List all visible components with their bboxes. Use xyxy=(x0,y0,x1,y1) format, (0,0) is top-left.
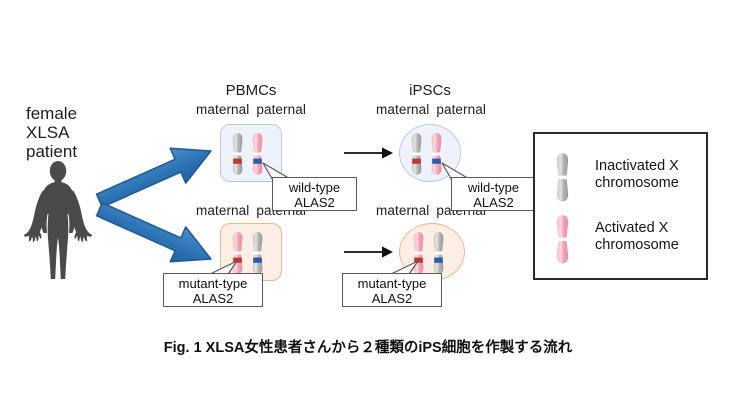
legend-item-activated: Activated X chromosome xyxy=(549,212,707,270)
legend-line1: Activated X xyxy=(595,220,713,237)
callout-line1: mutant-type xyxy=(168,277,258,292)
callout-line2: ALAS2 xyxy=(456,196,531,211)
column-title-pbmc: PBMCs xyxy=(191,82,311,99)
maternal-label: maternal xyxy=(376,203,429,218)
chromosome-paternal-inactivated xyxy=(251,231,264,275)
maternal-label: maternal xyxy=(376,102,429,117)
legend-item-inactivated: Inactivated X chromosome xyxy=(549,150,707,208)
paternal-label: paternal xyxy=(256,102,306,117)
legend-label-activated: Activated X chromosome xyxy=(595,220,713,253)
legend-label-inactivated: Inactivated X chromosome xyxy=(595,158,713,191)
inactivated-x-chromosome-icon xyxy=(555,152,570,202)
parent-labels-ipsc-top: maternalpaternal xyxy=(356,102,506,117)
callout-mutant-ipsc: mutant-type ALAS2 xyxy=(342,273,442,307)
callout-line2: ALAS2 xyxy=(347,292,437,307)
legend-line1: Inactivated X xyxy=(595,158,713,175)
maternal-label: maternal xyxy=(196,203,249,218)
legend-line2: chromosome xyxy=(595,175,713,192)
chromosome-maternal-inactivated xyxy=(231,132,244,176)
callout-line1: mutant-type xyxy=(347,277,437,292)
callout-line1: wild-type xyxy=(456,181,531,196)
parent-labels-pbmc-top: maternalpaternal xyxy=(176,102,326,117)
column-title-ipsc: iPSCs xyxy=(370,82,490,99)
paternal-label: paternal xyxy=(436,102,486,117)
activated-x-chromosome-icon xyxy=(555,214,570,264)
callout-wildtype-pbmc: wild-type ALAS2 xyxy=(272,177,357,211)
callout-line2: ALAS2 xyxy=(277,196,352,211)
callout-mutant-pbmc: mutant-type ALAS2 xyxy=(163,273,263,307)
callout-wildtype-ipsc: wild-type ALAS2 xyxy=(451,177,536,211)
figure-canvas: female XLSA patient P xyxy=(0,0,736,414)
figure-caption: Fig. 1 XLSA女性患者さんから２種類のiPS細胞を作製する流れ xyxy=(0,336,736,357)
callout-line1: wild-type xyxy=(277,181,352,196)
legend-line2: chromosome xyxy=(595,237,713,254)
female-patient-silhouette xyxy=(18,160,98,280)
chromosome-paternal-inactivated xyxy=(432,231,445,275)
callout-line2: ALAS2 xyxy=(168,292,258,307)
chromosome-maternal-inactivated xyxy=(410,132,423,176)
maternal-label: maternal xyxy=(196,102,249,117)
process-arrow-top xyxy=(344,145,394,166)
legend-box: Inactivated X chromosome Activated X chr… xyxy=(533,132,708,280)
